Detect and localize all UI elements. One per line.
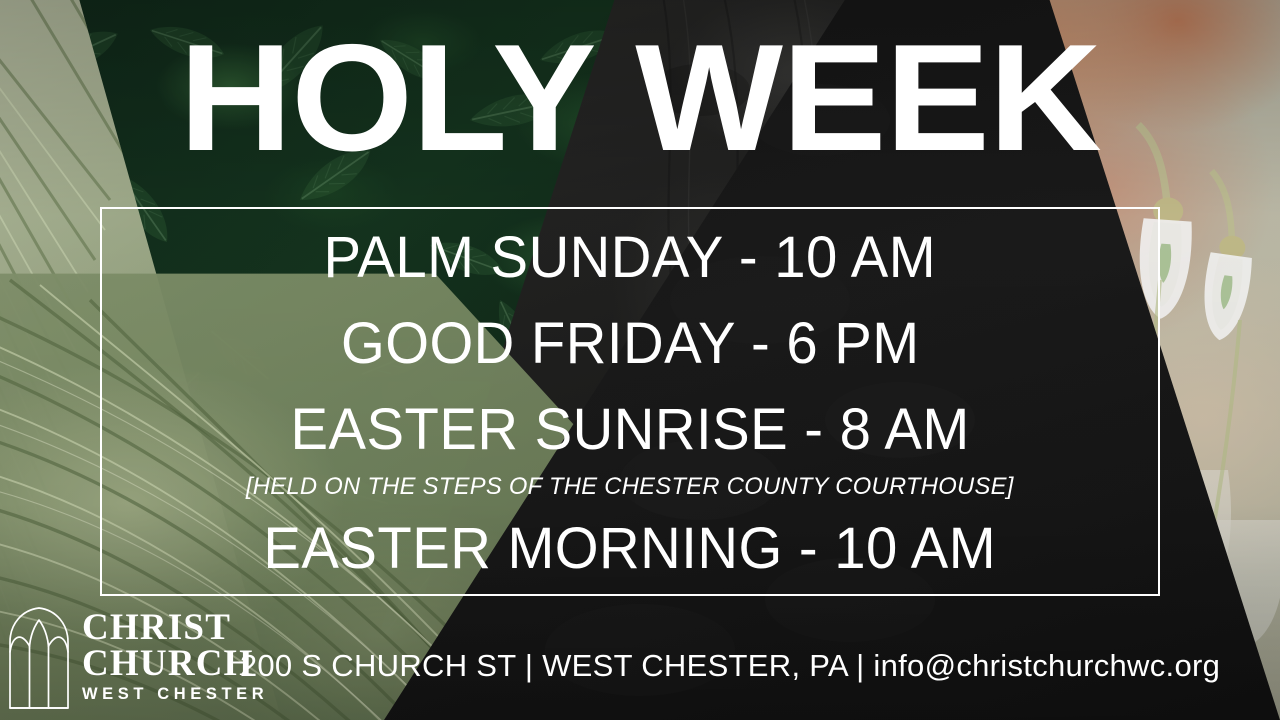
schedule-item-easter-morning: EASTER MORNING - 10 AM xyxy=(264,506,997,592)
schedule-list: PALM SUNDAY - 10 AM GOOD FRIDAY - 6 PM E… xyxy=(100,207,1160,596)
schedule-item-sunrise-location-note: [HELD ON THE STEPS OF THE CHESTER COUNTY… xyxy=(246,470,1014,503)
schedule-item-palm-sunday: PALM SUNDAY - 10 AM xyxy=(324,215,937,301)
footer-contact-info: 200 S CHURCH ST | WEST CHESTER, PA | inf… xyxy=(0,648,1280,684)
schedule-item-good-friday: GOOD FRIDAY - 6 PM xyxy=(341,301,920,387)
logo-line-christ: CHRIST xyxy=(82,610,268,646)
schedule-item-easter-sunrise: EASTER SUNRISE - 8 AM xyxy=(290,387,969,473)
logo-line-west-chester: WEST CHESTER xyxy=(82,686,268,703)
page-title: HOLY WEEK xyxy=(0,22,1280,174)
holy-week-poster: HOLY WEEK PALM SUNDAY - 10 AM GOOD FRIDA… xyxy=(0,0,1280,720)
